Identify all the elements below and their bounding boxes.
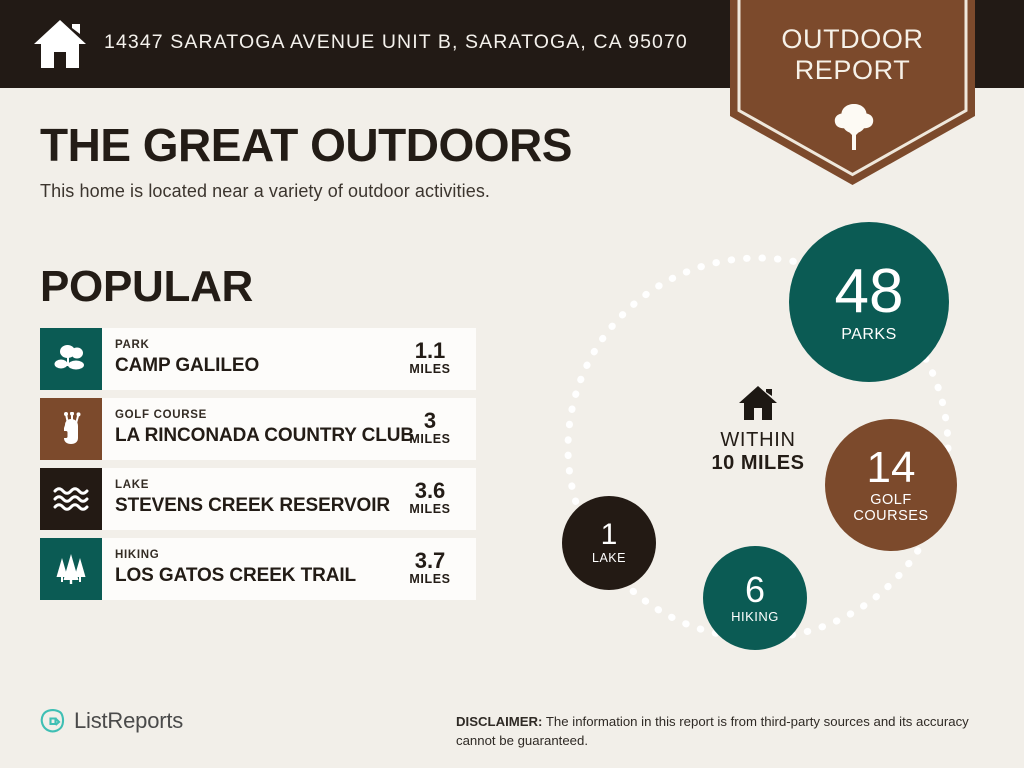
list-item[interactable]: PARK CAMP GALILEO 1.1 MILES [40, 328, 476, 390]
stat-label-line2: COURSES [853, 509, 928, 524]
home-icon [738, 385, 778, 421]
pine-trees-icon [54, 553, 88, 585]
row-text: LAKE STEVENS CREEK RESERVOIR [115, 479, 392, 517]
tree-icon [833, 103, 875, 151]
list-item[interactable]: LAKE STEVENS CREEK RESERVOIR 3.6 MILES [40, 468, 476, 530]
badge-title: OUTDOOR REPORT [730, 24, 975, 86]
center-line1: WITHIN [668, 429, 848, 452]
outdoor-report-badge: OUTDOOR REPORT [730, 0, 975, 185]
list-item[interactable]: HIKING LOS GATOS CREEK TRAIL 3.7 MILES [40, 538, 476, 600]
stat-bubble-lake[interactable]: 1 LAKE [562, 496, 656, 590]
row-category: PARK [115, 339, 392, 352]
distance-unit: MILES [394, 362, 466, 377]
disclaimer: DISCLAIMER: The information in this repo… [456, 712, 1001, 750]
row-category: GOLF COURSE [115, 409, 392, 422]
row-name: LA RINCONADA COUNTRY CLUB [115, 424, 392, 447]
row-distance: 1.1 MILES [394, 340, 466, 377]
row-icon-tile [40, 538, 102, 600]
stat-label: GOLF COURSES [853, 493, 928, 523]
water-waves-icon [52, 485, 90, 513]
outdoor-report-page: 14347 SARATOGA AVENUE UNIT B, SARATOGA, … [0, 0, 1024, 768]
row-category: LAKE [115, 479, 392, 492]
stat-value: 14 [867, 446, 916, 490]
center-line2: 10 MILES [668, 452, 848, 475]
row-icon-tile [40, 398, 102, 460]
distance-value: 3 [394, 410, 466, 432]
stat-value: 48 [835, 261, 904, 323]
stat-label: PARKS [841, 327, 897, 344]
park-trees-icon [53, 344, 89, 374]
row-name: CAMP GALILEO [115, 354, 392, 377]
row-icon-tile [40, 328, 102, 390]
stat-value: 6 [745, 572, 765, 608]
row-name: STEVENS CREEK RESERVOIR [115, 494, 392, 517]
distance-unit: MILES [394, 572, 466, 587]
row-icon-tile [40, 468, 102, 530]
listreports-leaf-icon [40, 709, 65, 734]
row-category: HIKING [115, 549, 392, 562]
popular-list: PARK CAMP GALILEO 1.1 MILES [40, 328, 476, 608]
badge-title-line2: REPORT [730, 55, 975, 86]
distance-value: 3.7 [394, 550, 466, 572]
stat-label: HIKING [731, 610, 779, 624]
stat-bubble-parks[interactable]: 48 PARKS [789, 222, 949, 382]
property-address: 14347 SARATOGA AVENUE UNIT B, SARATOGA, … [104, 31, 688, 54]
row-text: PARK CAMP GALILEO [115, 339, 392, 377]
list-item[interactable]: GOLF COURSE LA RINCONADA COUNTRY CLUB 3 … [40, 398, 476, 460]
distance-value: 3.6 [394, 480, 466, 502]
home-icon [32, 18, 88, 70]
within-10-miles-diagram: 48 PARKS 14 GOLF COURSES 6 HIKING 1 LAKE… [520, 210, 1024, 670]
disclaimer-label: DISCLAIMER: [456, 714, 542, 729]
section-title-popular: POPULAR [40, 262, 253, 312]
listreports-wordmark: ListReports [74, 708, 183, 734]
golf-bag-icon [56, 412, 86, 446]
stat-bubble-hiking[interactable]: 6 HIKING [703, 546, 807, 650]
distance-unit: MILES [394, 432, 466, 447]
row-text: HIKING LOS GATOS CREEK TRAIL [115, 549, 392, 587]
page-subtitle: This home is located near a variety of o… [40, 181, 490, 202]
listreports-logo[interactable]: ListReports [40, 708, 183, 734]
stat-label: LAKE [592, 552, 626, 565]
distance-value: 1.1 [394, 340, 466, 362]
stat-value: 1 [601, 520, 618, 550]
row-name: LOS GATOS CREEK TRAIL [115, 564, 392, 587]
row-text: GOLF COURSE LA RINCONADA COUNTRY CLUB [115, 409, 392, 447]
page-title: THE GREAT OUTDOORS [40, 118, 572, 172]
row-distance: 3 MILES [394, 410, 466, 447]
distance-unit: MILES [394, 502, 466, 517]
diagram-center-label: WITHIN 10 MILES [668, 385, 848, 475]
row-distance: 3.6 MILES [394, 480, 466, 517]
badge-title-line1: OUTDOOR [730, 24, 975, 55]
stat-label-line1: GOLF [853, 493, 928, 508]
row-distance: 3.7 MILES [394, 550, 466, 587]
